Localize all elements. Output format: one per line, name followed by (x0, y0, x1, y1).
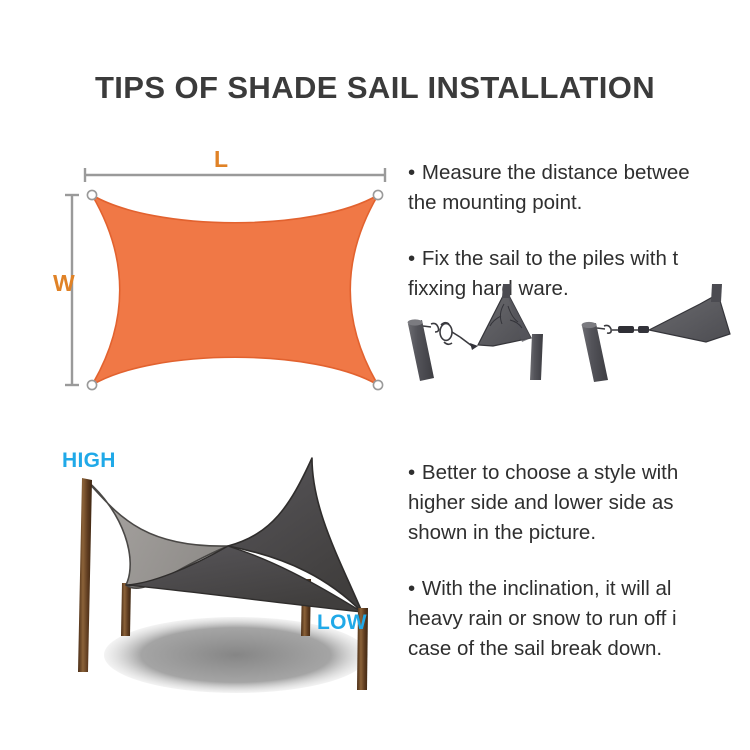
length-dimension-line (85, 168, 385, 182)
tip-line: the mounting point. (408, 191, 582, 214)
fitting-icon (638, 326, 649, 333)
tips-text-bottom: • Better to choose a style with higher s… (408, 458, 750, 664)
rectangular-sail-diagram (60, 140, 410, 400)
callout-high: HIGH (62, 450, 116, 471)
tip-line: shown in the picture. (408, 521, 596, 544)
turnbuckle-icon (423, 323, 472, 346)
hardware-illustrations (400, 282, 750, 382)
grommet-icon (373, 380, 382, 389)
inclined-sail-diagram (40, 440, 420, 710)
post-icon (711, 284, 722, 302)
tip-line: higher side and lower side as (408, 491, 674, 514)
hardware-illustration-left (408, 284, 543, 381)
post-icon (408, 319, 434, 381)
infographic-page: TIPS OF SHADE SAIL INSTALLATION L W • Me… (0, 0, 750, 750)
tip-line: heavy rain or snow to run off i (408, 607, 677, 630)
post-icon (121, 583, 131, 636)
page-title: TIPS OF SHADE SAIL INSTALLATION (0, 70, 750, 106)
post-icon (530, 334, 543, 380)
grommet-icon (87, 190, 96, 199)
post-icon (78, 478, 92, 672)
grommet-icon (87, 380, 96, 389)
hardware-illustration-right (582, 284, 730, 382)
width-label: W (53, 272, 75, 295)
length-label: L (214, 148, 228, 171)
tip-line: case of the sail break down. (408, 637, 662, 660)
bullet-icon: • (408, 461, 416, 484)
tip-line: Better to choose a style with (422, 461, 678, 484)
grommet-icon (373, 190, 382, 199)
fitting-icon (470, 343, 478, 350)
tip-paragraph: • With the inclination, it will al heavy… (408, 574, 750, 664)
tip-paragraph: • Measure the distance betwee the mounti… (408, 158, 750, 218)
tip-line: Fix the sail to the piles with t (422, 247, 678, 270)
orange-sail-shape (92, 195, 378, 385)
callout-low: LOW (317, 612, 367, 633)
post-icon (502, 284, 511, 298)
tip-paragraph: • Better to choose a style with higher s… (408, 458, 750, 548)
post-icon (582, 322, 608, 382)
tensioner-body (618, 326, 634, 333)
bullet-icon: • (408, 577, 416, 600)
bullet-icon: • (408, 247, 416, 270)
tip-line: Measure the distance betwee (422, 161, 690, 184)
tip-line: With the inclination, it will al (422, 577, 672, 600)
bullet-icon: • (408, 161, 416, 184)
